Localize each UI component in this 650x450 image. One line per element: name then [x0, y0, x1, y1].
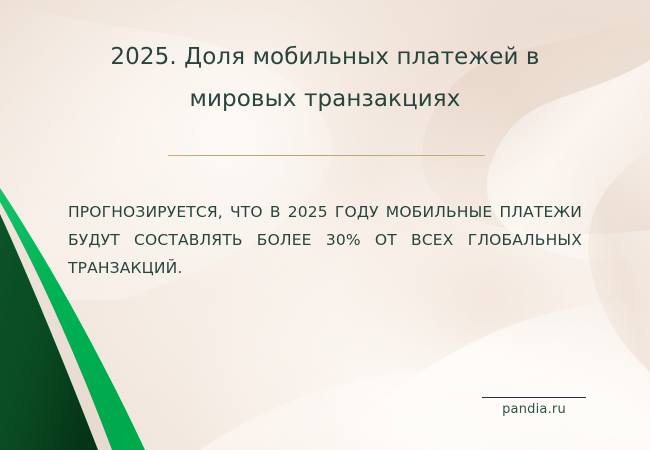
- footer-rule: [482, 397, 586, 398]
- footer-site-label[interactable]: pandia.ru: [478, 402, 590, 417]
- title-divider: [168, 155, 485, 156]
- body-paragraph: ПРОГНОЗИРУЕТСЯ, ЧТО В 2025 ГОДУ МОБИЛЬНЫ…: [68, 198, 582, 282]
- footer-watermark: pandia.ru: [478, 397, 590, 417]
- green-corner-swoosh-icon: [0, 150, 320, 450]
- slide-canvas: 2025. Доля мобильных платежей в мировых …: [0, 0, 650, 450]
- page-title: 2025. Доля мобильных платежей в мировых …: [70, 36, 580, 120]
